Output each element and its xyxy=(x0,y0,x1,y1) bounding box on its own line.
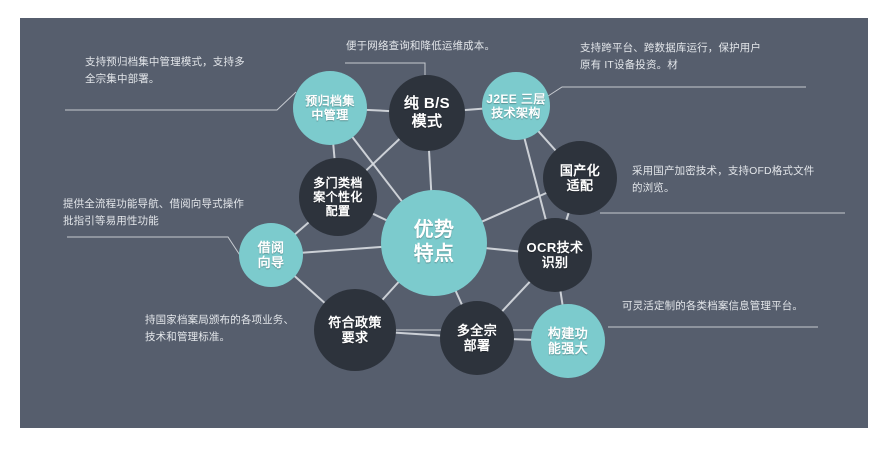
node-connector-line xyxy=(366,138,400,171)
node-connector-line xyxy=(395,333,441,336)
infographic-stage: 预归档集 中管理纯 B/S 模式J2EE 三层 技术架构国产化 适配多门类档 案… xyxy=(0,0,888,454)
node-connector-line xyxy=(429,150,431,191)
ann-pure-bs: 便于网络查询和降低运维成本。 xyxy=(346,38,556,55)
node-connector-line xyxy=(538,131,556,151)
annotation-leader-line xyxy=(65,92,296,110)
node-connector-line xyxy=(464,109,483,111)
node-connector-line xyxy=(372,213,387,220)
center-node-center[interactable] xyxy=(381,190,487,296)
node-connector-line xyxy=(566,212,569,221)
node-ocr[interactable] xyxy=(518,218,592,292)
annotation-leader-line xyxy=(545,87,806,98)
node-connector-line xyxy=(366,110,390,111)
node-connector-line xyxy=(560,291,562,306)
ann-policy: 持国家档案局颁布的各项业务、 技术和管理标准。 xyxy=(145,312,360,346)
node-multi-fonds[interactable] xyxy=(440,301,514,375)
node-connector-line xyxy=(455,290,462,305)
node-borrow-guide[interactable] xyxy=(239,223,303,287)
ann-localization: 采用国产加密技术，支持OFD格式文件 的浏览。 xyxy=(632,163,857,197)
annotation-leader-line xyxy=(67,237,247,266)
ann-powerful: 可灵活定制的各类档案信息管理平台。 xyxy=(622,298,862,315)
node-connector-line xyxy=(486,248,519,251)
node-connector-line xyxy=(513,339,532,340)
node-connector-line xyxy=(502,281,531,312)
node-j2ee[interactable] xyxy=(482,72,550,140)
annotation-leader-line xyxy=(345,63,425,75)
node-connector-line xyxy=(302,247,382,253)
node-pure-bs[interactable] xyxy=(389,75,465,151)
node-connector-line xyxy=(294,276,325,304)
node-connector-line xyxy=(482,193,548,222)
ann-pre-archive: 支持预归档集中管理模式，支持多 全宗集中部署。 xyxy=(85,54,315,88)
node-connector-line xyxy=(524,138,546,220)
node-powerful[interactable] xyxy=(531,304,605,378)
node-localization[interactable] xyxy=(543,141,617,215)
ann-j2ee: 支持跨平台、跨数据库运行，保护用户 原有 IT设备投资。材 xyxy=(580,40,840,74)
ann-borrow-guide: 提供全流程功能导航、借阅向导式操作 批指引等易用性功能 xyxy=(63,196,313,230)
node-connector-line xyxy=(382,281,399,300)
node-connector-line xyxy=(333,144,334,159)
